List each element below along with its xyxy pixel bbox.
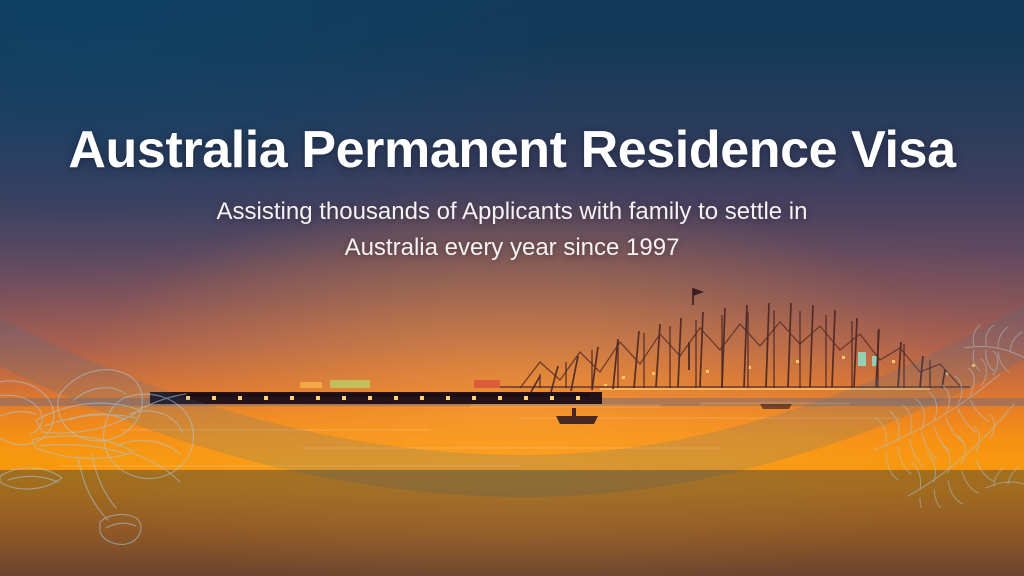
- foreground-buildings-left: [0, 330, 160, 402]
- harbour-water: [0, 398, 1024, 576]
- subtitle-line-1: Assisting thousands of Applicants with f…: [0, 194, 1024, 230]
- page-subtitle: Assisting thousands of Applicants with f…: [0, 194, 1024, 265]
- harbour-boat-2: [760, 404, 792, 409]
- bridge-pylon-right: [928, 322, 972, 396]
- hero-copy: Australia Permanent Residence Visa Assis…: [0, 0, 1024, 265]
- page-title: Australia Permanent Residence Visa: [0, 122, 1024, 178]
- sydney-opera-house: [150, 280, 604, 404]
- hero-banner: Australia Permanent Residence Visa Assis…: [0, 0, 1024, 576]
- subtitle-line-2: Australia every year since 1997: [0, 230, 1024, 266]
